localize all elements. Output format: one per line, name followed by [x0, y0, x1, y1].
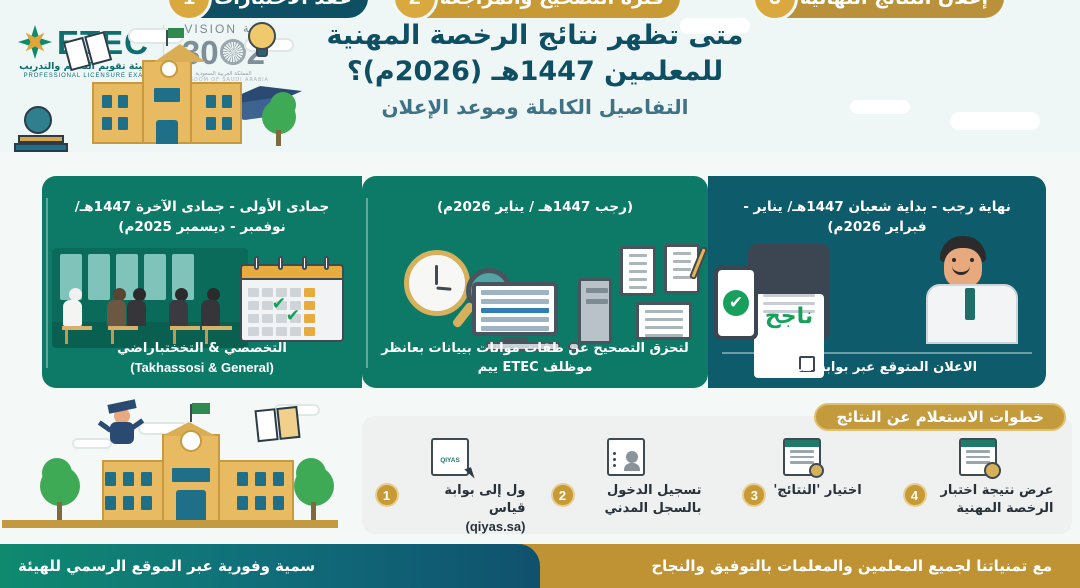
result-step-3-badge: 3: [742, 483, 766, 507]
result-step-1-label: ول إلى بوابة قياس (qiyas.sa): [406, 482, 526, 538]
school-illustration-header: [8, 8, 320, 152]
panel-3-artwork: ناجح ✔: [708, 236, 1046, 358]
timeline-panel-3: نهاية رجب - بداية شعبان 1447هـ/ يناير - …: [708, 176, 1046, 388]
cloud-decor: [850, 100, 910, 114]
panel-3-separator: [722, 352, 1032, 354]
panel-1-caption: التخصصي & التخختباراضي (Takhassosi & Gen…: [42, 340, 362, 378]
flag-icon: [168, 28, 184, 38]
document-seal-icon: [959, 438, 997, 476]
papers-stack-icon: [636, 302, 692, 340]
panel-2-date: (رجب 1447هـ / يناير 2026م): [362, 198, 708, 218]
graduate-figure: [102, 402, 142, 446]
timeline-panel-2: (رجب 1447هـ / يناير 2026م): [362, 176, 708, 388]
document-icon: [620, 246, 656, 296]
book-stack: [14, 143, 68, 152]
results-steps-header: خطوات الاستعلام عن النتائج: [814, 403, 1066, 431]
clock-icon: [404, 250, 470, 316]
phone-device: ✔: [714, 266, 758, 340]
panel-3-date: نهاية رجب - بداية شعبان 1447هـ/ يناير - …: [708, 198, 1046, 237]
student-figure: [66, 288, 82, 326]
classroom-illustration: [52, 248, 248, 348]
pc-tower-icon: [578, 278, 612, 344]
timeline-title-1: عقد الاختبارات: [214, 0, 352, 9]
calendar-icon: ✔ ✔: [240, 256, 344, 342]
panel-1-artwork: ✔ ✔: [42, 244, 362, 354]
timeline-header-2: فترة التصحيح والمراجعة 2: [394, 0, 680, 18]
school-roof: [154, 44, 206, 62]
footer-teal-bar: سمية وفورية عبر الموقع الرسمي للهيئة: [0, 544, 540, 588]
student-figure: [110, 288, 126, 326]
panel-2-artwork: [362, 244, 708, 354]
footer-section: مع تمنياتنا لجميع المعلمين والمعلمات بال…: [0, 544, 1080, 588]
tablet-device: ناجح: [748, 244, 830, 340]
footer-teal-text: سمية وفورية عبر الموقع الرسمي للهيئة: [18, 557, 315, 575]
result-step-2-label: تسجيل الدخول بالسجل المدني: [582, 482, 702, 518]
timeline-title-3: إعلان النتائج النهائية: [800, 0, 988, 9]
lightbulb-icon: [244, 22, 278, 62]
title-group: متى تظهر نتائج الرخصة المهنية للمعلمين 1…: [305, 18, 765, 119]
panel-2-caption-ar: لتحزق التصحيح عن ظقات موانات بييانات بعا…: [376, 340, 694, 378]
qiyas-icon-label: QIYAS: [431, 438, 469, 476]
panel-1-caption-en: (Takhassosi & General): [56, 359, 348, 378]
browser-qiyas-icon: QIYAS: [431, 438, 469, 476]
result-step-4[interactable]: 4 عرض نتيجة اختبار الرخصة المهنية: [890, 438, 1066, 538]
id-card-icon: [607, 438, 645, 476]
footer-gold-text: مع تمنياتنا لجميع المعلمين والمعلمات بال…: [651, 557, 1052, 575]
result-step-3[interactable]: 3 اختيار 'النتائج': [714, 438, 890, 538]
panel-1-date: جمادى الأولى - جمادى الآخرة 1447هـ/ نوفم…: [42, 198, 362, 237]
result-step-4-badge: 4: [903, 483, 927, 507]
cursor-icon: [464, 467, 474, 481]
timeline-header-1: عقد الاختبارات 1: [168, 0, 368, 18]
result-step-4-label: عرض نتيجة اختبار الرخصة المهنية: [934, 482, 1054, 518]
clock-icon: [160, 60, 178, 78]
result-step-1[interactable]: QIYAS 1 ول إلى بوابة قياس (qiyas.sa): [362, 438, 538, 538]
clock-icon: [180, 430, 202, 452]
header-section: ETEC هيئة تقويم التعليم والتدريب PROFESS…: [0, 0, 1080, 152]
list-search-icon: [783, 438, 821, 476]
result-step-2[interactable]: 2 تسجيل الدخول بالسجل المدني: [538, 438, 714, 538]
student-figure: [172, 288, 188, 326]
pass-status-text: ناجح: [754, 304, 824, 329]
timeline-title-2: فترة التصحيح والمراجعة: [440, 0, 664, 9]
person-illustration: [918, 236, 1028, 344]
result-step-3-label: اختيار 'النتائج': [773, 482, 861, 500]
monitor-icon: [472, 282, 558, 344]
book-stack: [18, 135, 64, 143]
flag-icon: [192, 403, 210, 414]
results-steps-row: QIYAS 1 ول إلى بوابة قياس (qiyas.sa): [362, 438, 1072, 538]
success-check-icon: ✔: [723, 290, 749, 316]
globe-icon: [24, 106, 52, 134]
infographic-page: ETEC هيئة تقويم التعليم والتدريب PROFESS…: [0, 0, 1080, 588]
panel-3-caption: الاعلان المتوقع عبر بوابة قياس: [708, 359, 1046, 378]
cloud-decor: [950, 112, 1040, 130]
magnifier-lens-icon: [809, 463, 824, 478]
timeline-panel-1: جمادى الأولى - جمادى الآخرة 1447هـ/ نوفم…: [42, 176, 362, 388]
result-step-1-badge: 1: [375, 483, 399, 507]
panel-1-caption-ar: التخصصي & التخختباراضي: [56, 340, 348, 359]
timeline-header-3: إعلان النتائج النهائية 3: [754, 0, 1004, 18]
result-step-2-badge: 2: [551, 483, 575, 507]
open-book-icon: [254, 406, 301, 442]
open-book-icon: [63, 31, 113, 71]
school-illustration-footer: [2, 396, 338, 546]
panel-2-caption: لتحزق التصحيح عن ظقات موانات بييانات بعا…: [362, 340, 708, 378]
page-subtitle: التفاصيل الكاملة وموعد الإعلان: [305, 95, 765, 119]
seal-icon: [984, 462, 1001, 479]
page-title: متى تظهر نتائج الرخصة المهنية للمعلمين 1…: [305, 18, 765, 89]
panel-3-caption-ar: الاعلان المتوقع عبر بوابة قياس: [722, 359, 1032, 378]
student-figure: [130, 288, 146, 326]
results-steps-card: خطوات الاستعلام عن النتائج QIYAS 1 ول إل…: [362, 416, 1072, 534]
student-figure: [204, 288, 220, 326]
